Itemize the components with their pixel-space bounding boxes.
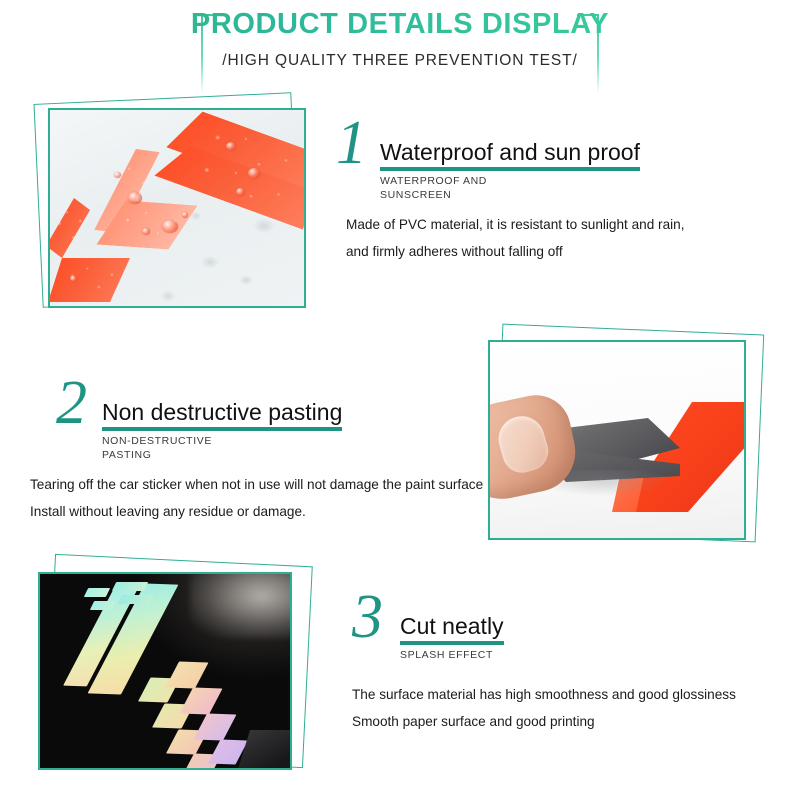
product-details-page: PRODUCT DETAILS DISPLAY /HIGH QUALITY TH… [0, 0, 800, 800]
water-droplet [70, 276, 77, 282]
photo-scene [40, 574, 290, 768]
water-droplet [114, 172, 121, 178]
photo-frame-waterproof [38, 98, 318, 318]
section-number: 1 [336, 112, 367, 174]
holographic-tick [118, 595, 154, 604]
section-body-text: Made of PVC material, it is resistant to… [346, 212, 796, 265]
photo-peeling-sticker [488, 340, 746, 540]
water-droplet [248, 168, 260, 179]
section-caption: WATERPROOF AND SUNSCREEN [380, 175, 640, 203]
section-heading: Cut neatly [400, 614, 504, 640]
heading-underline [380, 167, 640, 171]
holographic-tick [90, 601, 116, 610]
holographic-tick [84, 588, 110, 597]
section-body-text: The surface material has high smoothness… [352, 682, 792, 735]
sticker-chevron [48, 198, 90, 258]
water-droplet [162, 220, 178, 233]
section-heading: Non destructive pasting [102, 400, 342, 426]
section-caption: SPLASH EFFECT [400, 649, 504, 663]
background-blur-highlight [190, 572, 292, 638]
page-header: PRODUCT DETAILS DISPLAY /HIGH QUALITY TH… [0, 0, 800, 96]
photo-holographic-sticker [38, 572, 292, 770]
page-subtitle: /HIGH QUALITY THREE PREVENTION TEST/ [0, 52, 800, 70]
water-droplet [182, 212, 188, 218]
page-title: PRODUCT DETAILS DISPLAY [0, 8, 800, 41]
photo-waterproof-stickers [48, 108, 306, 308]
water-droplet [142, 228, 150, 235]
photo-scene [50, 110, 304, 306]
photo-frame-peeling [488, 326, 768, 548]
section-caption: NON-DESTRUCTIVE PASTING [102, 435, 342, 463]
photo-frame-holographic [38, 560, 314, 778]
section-number: 2 [56, 372, 87, 434]
section-heading-group: Non destructive pasting NON-DESTRUCTIVE … [102, 400, 342, 462]
section-heading-group: Cut neatly SPLASH EFFECT [400, 614, 504, 663]
heading-underline [102, 427, 342, 431]
section-number: 3 [352, 586, 383, 648]
section-heading-group: Waterproof and sun proof WATERPROOF AND … [380, 140, 640, 202]
section-body-text: Tearing off the car sticker when not in … [30, 472, 550, 525]
car-body-edge [236, 730, 292, 770]
holographic-chevron [193, 713, 236, 740]
holographic-chevron [179, 687, 222, 714]
photo-scene [490, 342, 744, 538]
heading-underline [400, 641, 504, 645]
holographic-tick [112, 582, 148, 591]
holographic-chevron [165, 661, 208, 688]
section-heading: Waterproof and sun proof [380, 140, 640, 166]
water-droplet [236, 188, 245, 196]
water-droplet [128, 192, 142, 204]
sticker-chevron [48, 258, 130, 302]
water-droplet [226, 142, 236, 151]
